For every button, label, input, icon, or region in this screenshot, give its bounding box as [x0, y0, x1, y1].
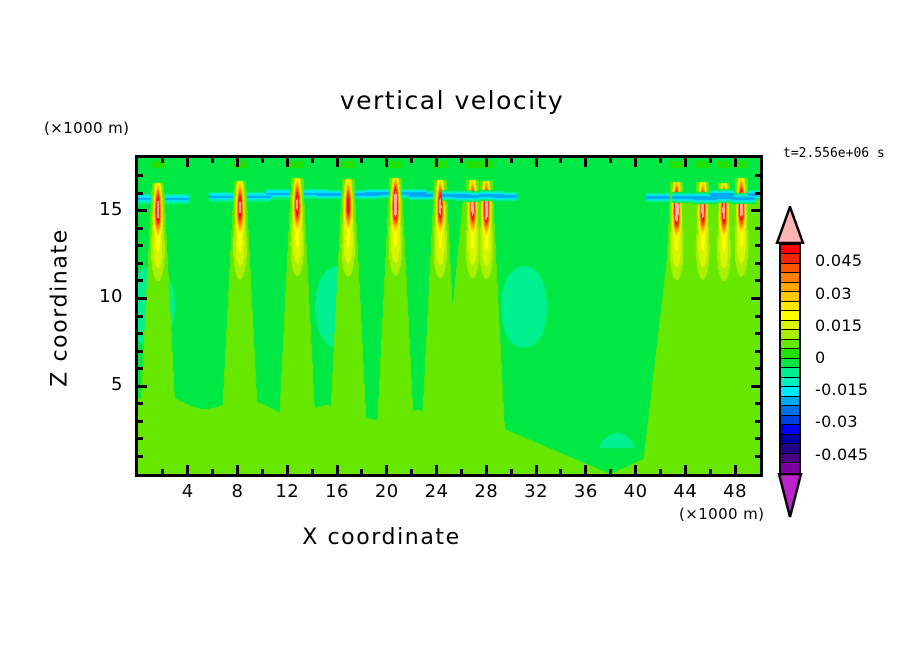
axis-tick [755, 420, 760, 423]
axis-tick [751, 297, 760, 300]
x-axis-unit-label: (×1000 m) [679, 505, 764, 523]
axis-tick [435, 465, 438, 474]
axis-tick [659, 158, 662, 163]
colorbar-over-arrow-icon [775, 206, 805, 244]
axis-tick [360, 469, 363, 474]
axis-tick [360, 158, 363, 163]
page-title: vertical velocity [0, 86, 904, 115]
axis-tick [385, 465, 388, 474]
timestamp-label: t=2.556e+06 s [783, 146, 885, 161]
axis-tick [385, 158, 388, 167]
colorbar-band [781, 425, 799, 434]
colorbar-tick-label: 0 [815, 348, 825, 367]
colorbar-band [781, 359, 799, 368]
axis-tick [709, 158, 712, 163]
axis-tick [161, 158, 164, 163]
axis-tick [755, 402, 760, 405]
axis-tick [709, 469, 712, 474]
axis-tick [138, 297, 147, 300]
axis-tick [138, 437, 143, 440]
colorbar-band [781, 321, 799, 330]
colorbar-band [781, 454, 799, 463]
axis-tick [138, 350, 143, 353]
axis-tick [138, 262, 143, 265]
axis-tick [138, 402, 143, 405]
axis-tick [535, 465, 538, 474]
axis-tick [236, 158, 239, 167]
colorbar-under-arrow-icon [775, 473, 805, 518]
axis-tick [510, 469, 513, 474]
axis-tick [286, 465, 289, 474]
axis-tick [755, 332, 760, 335]
axis-tick [734, 158, 737, 167]
colorbar-tick-label: -0.03 [815, 412, 858, 431]
colorbar-band [781, 254, 799, 263]
axis-tick [186, 465, 189, 474]
colorbar-band [781, 340, 799, 349]
axis-tick [559, 158, 562, 163]
axis-tick [460, 158, 463, 163]
colorbar-band [781, 387, 799, 396]
colorbar-band [781, 406, 799, 415]
axis-tick [138, 209, 147, 212]
colorbar-band [781, 292, 799, 301]
y-axis-unit-label: (×1000 m) [44, 119, 129, 137]
colorbar-band [781, 397, 799, 406]
colorbar-band [781, 368, 799, 377]
colorbar-band [781, 349, 799, 358]
colorbar-band [781, 463, 799, 472]
axis-tick [186, 158, 189, 167]
axis-tick-layer [138, 158, 760, 474]
axis-tick [161, 469, 164, 474]
axis-tick [755, 350, 760, 353]
axis-tick [138, 315, 143, 318]
axis-tick [684, 465, 687, 474]
axis-tick [138, 174, 143, 177]
axis-tick [755, 279, 760, 282]
colorbar-tick-label: -0.015 [815, 380, 868, 399]
colorbar-band [781, 245, 799, 254]
axis-tick [410, 469, 413, 474]
axis-tick [755, 455, 760, 458]
colorbar-band [781, 416, 799, 425]
axis-tick [138, 227, 143, 230]
colorbar-band [781, 444, 799, 453]
colorbar-band [781, 264, 799, 273]
axis-tick [755, 262, 760, 265]
axis-tick [138, 192, 143, 195]
y-axis-label: Z coordinate [48, 208, 73, 408]
axis-tick [609, 158, 612, 163]
axis-tick [261, 158, 264, 163]
colorbar-band [781, 311, 799, 320]
x-tick-label: 48 [705, 481, 765, 502]
axis-tick [336, 465, 339, 474]
axis-tick [734, 465, 737, 474]
axis-tick [755, 244, 760, 247]
axis-tick [485, 465, 488, 474]
axis-tick [559, 469, 562, 474]
axis-tick [311, 158, 314, 163]
axis-tick [634, 465, 637, 474]
axis-tick [261, 469, 264, 474]
axis-tick [138, 385, 147, 388]
axis-tick [659, 469, 662, 474]
axis-tick [535, 158, 538, 167]
axis-tick [755, 315, 760, 318]
axis-tick [609, 469, 612, 474]
colorbar-band [781, 302, 799, 311]
colorbar-band [781, 435, 799, 444]
colorbar-band [781, 273, 799, 282]
axis-tick [138, 332, 143, 335]
axis-tick [684, 158, 687, 167]
colorbar-tick-label: -0.045 [815, 445, 868, 464]
axis-tick [755, 437, 760, 440]
colorbar-tick-label: 0.03 [815, 284, 852, 303]
axis-tick [751, 209, 760, 212]
axis-tick [755, 367, 760, 370]
colorbar-band [781, 378, 799, 387]
axis-tick [584, 158, 587, 167]
axis-tick [755, 227, 760, 230]
axis-tick [460, 469, 463, 474]
colorbar-band [781, 283, 799, 292]
axis-tick [138, 279, 143, 282]
colorbar-tick-label: 0.015 [815, 316, 862, 335]
axis-tick [138, 455, 143, 458]
axis-tick [311, 469, 314, 474]
axis-tick [435, 158, 438, 167]
x-axis-label: X coordinate [0, 525, 763, 550]
axis-tick [138, 420, 143, 423]
axis-tick [510, 158, 513, 163]
axis-tick [410, 158, 413, 163]
colorbar-tick-label: 0.045 [815, 251, 862, 270]
colorbar-band [781, 330, 799, 339]
axis-tick [211, 158, 214, 163]
axis-tick [286, 158, 289, 167]
colorbar[interactable] [779, 243, 801, 475]
axis-tick [584, 465, 587, 474]
axis-tick [138, 367, 143, 370]
axis-tick [755, 174, 760, 177]
axis-tick [751, 385, 760, 388]
axis-tick [634, 158, 637, 167]
axis-tick [755, 192, 760, 195]
axis-tick [211, 469, 214, 474]
axis-tick [236, 465, 239, 474]
axis-tick [336, 158, 339, 167]
axis-tick [485, 158, 488, 167]
contour-plot-area[interactable] [135, 155, 763, 477]
axis-tick [138, 244, 143, 247]
